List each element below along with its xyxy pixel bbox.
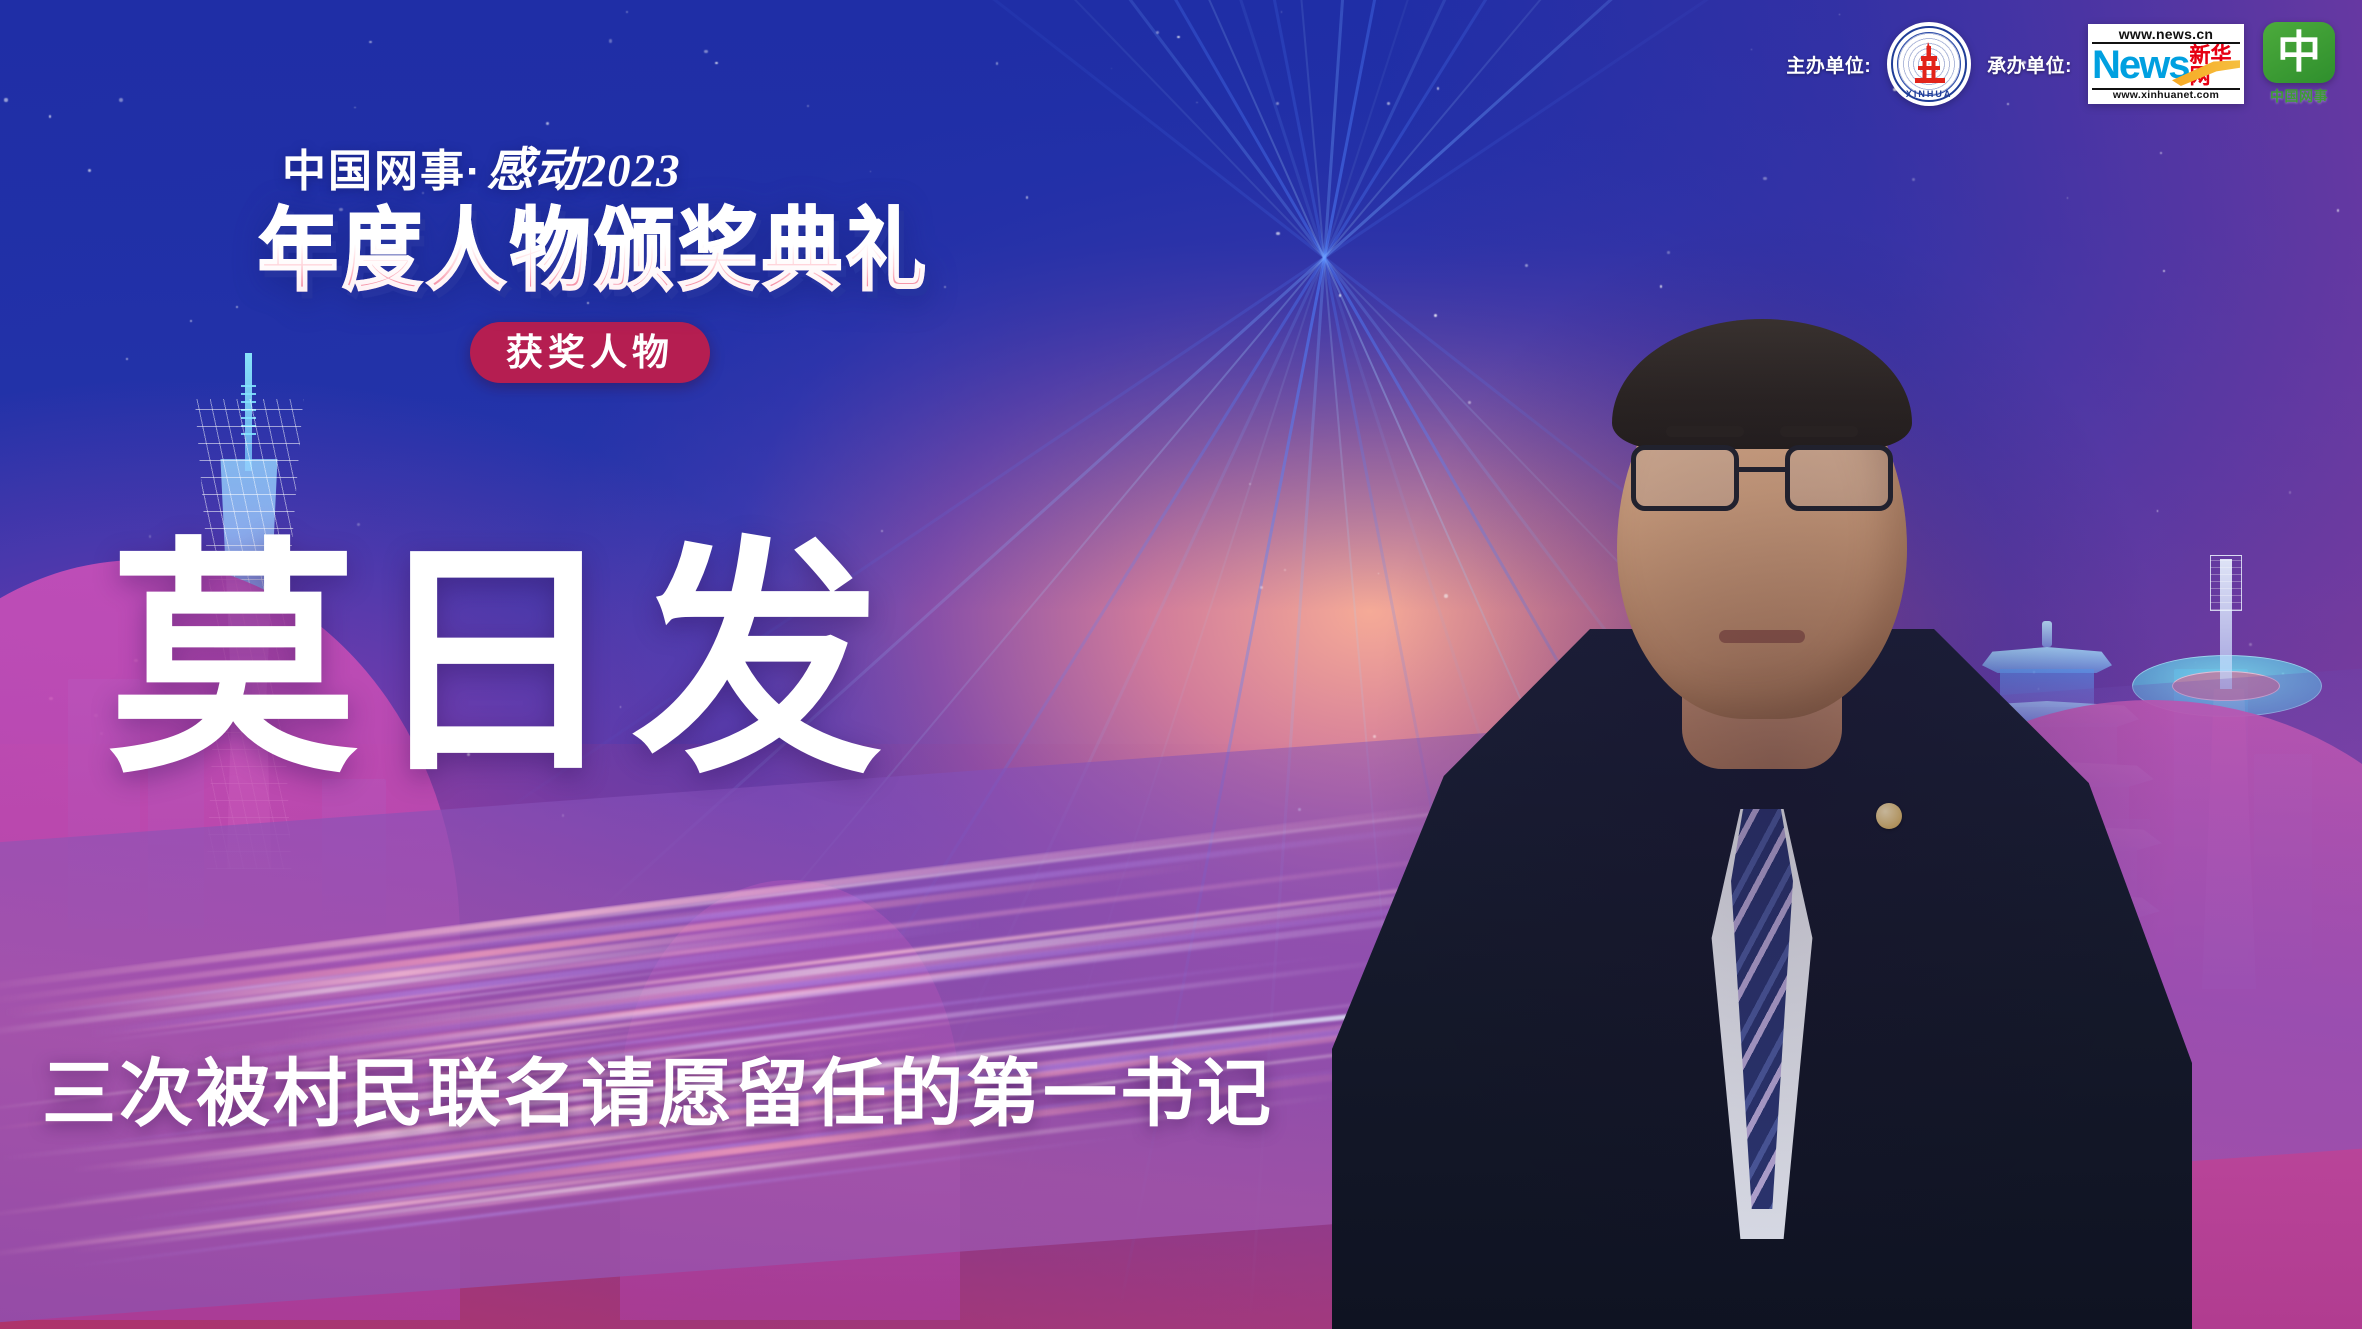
- award-badge-label: 获奖人物: [506, 334, 674, 371]
- event-title-line1: 中国网事· 感动2023: [258, 146, 1018, 198]
- star: [4, 98, 7, 101]
- zhong-glyph-icon: 中: [2263, 22, 2335, 83]
- event-title-line2: 年度人物颁奖典礼: [258, 204, 1018, 298]
- event-title-block: 中国网事· 感动2023 年度人物颁奖典礼 获奖人物: [258, 146, 1018, 383]
- star: [1026, 196, 1028, 198]
- cohost-label: 承办单位:: [1987, 51, 2072, 78]
- header-logo-bar: 主办单位: XINHUA 承办单位: www.news.cn News 新华网: [1786, 18, 2338, 110]
- xinhuanet-latin-mark: News: [2092, 50, 2189, 81]
- star: [609, 39, 613, 43]
- portrait-hair: [1612, 319, 1912, 449]
- xinhuanet-url-bottom: www.xinhuanet.com: [2092, 88, 2240, 101]
- zhongguowangshi-caption: 中国网事: [2270, 86, 2328, 106]
- award-poster: 主办单位: XINHUA 承办单位: www.news.cn News 新华网: [0, 0, 2362, 1329]
- organizer-label: 主办单位:: [1786, 51, 1871, 78]
- xinhuanet-mark: News 新华网: [2092, 44, 2240, 88]
- lapel-pin-icon: [1876, 803, 1902, 829]
- portrait-eyebrow: [1780, 426, 1858, 437]
- star: [236, 306, 238, 308]
- portrait-mouth: [1719, 630, 1805, 643]
- star: [996, 62, 998, 64]
- star: [807, 105, 808, 106]
- event-title-line1-main: 中国网事·: [282, 148, 483, 196]
- star: [2337, 209, 2339, 211]
- star: [1177, 36, 1179, 38]
- honoree-name: 莫日发: [108, 540, 894, 790]
- xinhua-tower-icon: [1909, 42, 1949, 86]
- zhongguowangshi-logo[interactable]: 中 中国网事: [2260, 22, 2338, 106]
- tv-tower-cage: [2210, 555, 2242, 611]
- xinhuanet-logo[interactable]: www.news.cn News 新华网 www.xinhuanet.com: [2088, 24, 2244, 104]
- award-badge: 获奖人物: [470, 322, 710, 383]
- star: [1284, 569, 1285, 570]
- xinhuanet-url-top: www.news.cn: [2092, 27, 2240, 44]
- event-title-line1-script: 感动2023: [487, 146, 681, 198]
- honoree-caption: 三次被村民联名请愿留任的第一书记: [42, 1058, 1274, 1132]
- glasses-lens-left: [1631, 445, 1739, 511]
- xinhua-agency-logo[interactable]: XINHUA: [1887, 22, 1971, 106]
- portrait-eyebrow: [1666, 426, 1744, 437]
- glasses-lens-right: [1785, 445, 1893, 511]
- honoree-portrait: [1312, 0, 2212, 1329]
- star: [1281, 11, 1283, 13]
- star: [1276, 102, 1279, 105]
- portrait-glasses: [1631, 445, 1893, 519]
- zhongguowangshi-badge: 中: [2263, 22, 2335, 83]
- glasses-bridge: [1739, 467, 1785, 472]
- xinhua-wordmark: XINHUA: [1887, 89, 1971, 99]
- star: [626, 11, 628, 13]
- star: [1111, 68, 1112, 69]
